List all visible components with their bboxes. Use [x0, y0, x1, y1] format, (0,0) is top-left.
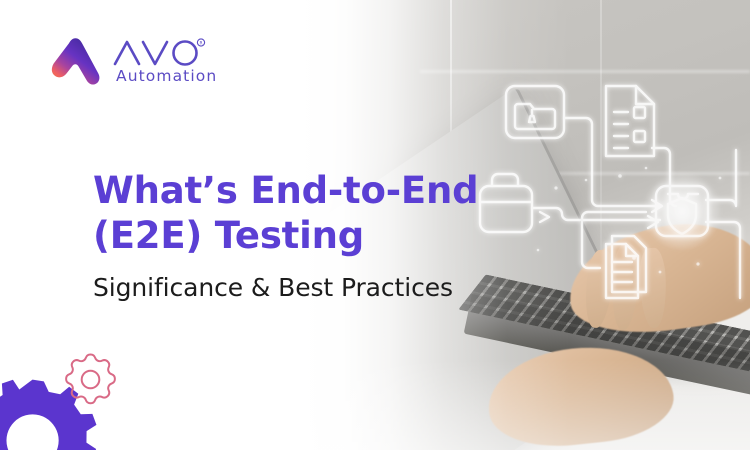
- page-subtitle: Significance & Best Practices: [93, 272, 523, 303]
- avo-logo-mark: [48, 35, 104, 87]
- page-title: What’s End-to-End (E2E) Testing: [93, 168, 493, 258]
- svg-text:R: R: [199, 40, 202, 46]
- avo-wordmark-group: R Automation: [113, 38, 217, 84]
- avo-wordmark: R Automation: [113, 38, 217, 84]
- blog-banner: R Automation What’s End-to-End (E2E) Tes…: [0, 0, 750, 450]
- avo-automation-logo[interactable]: R Automation: [48, 35, 217, 87]
- svg-text:Automation: Automation: [116, 67, 217, 84]
- gear-outline-pink-icon: [63, 352, 118, 407]
- photo-bottom-fade: [300, 360, 750, 450]
